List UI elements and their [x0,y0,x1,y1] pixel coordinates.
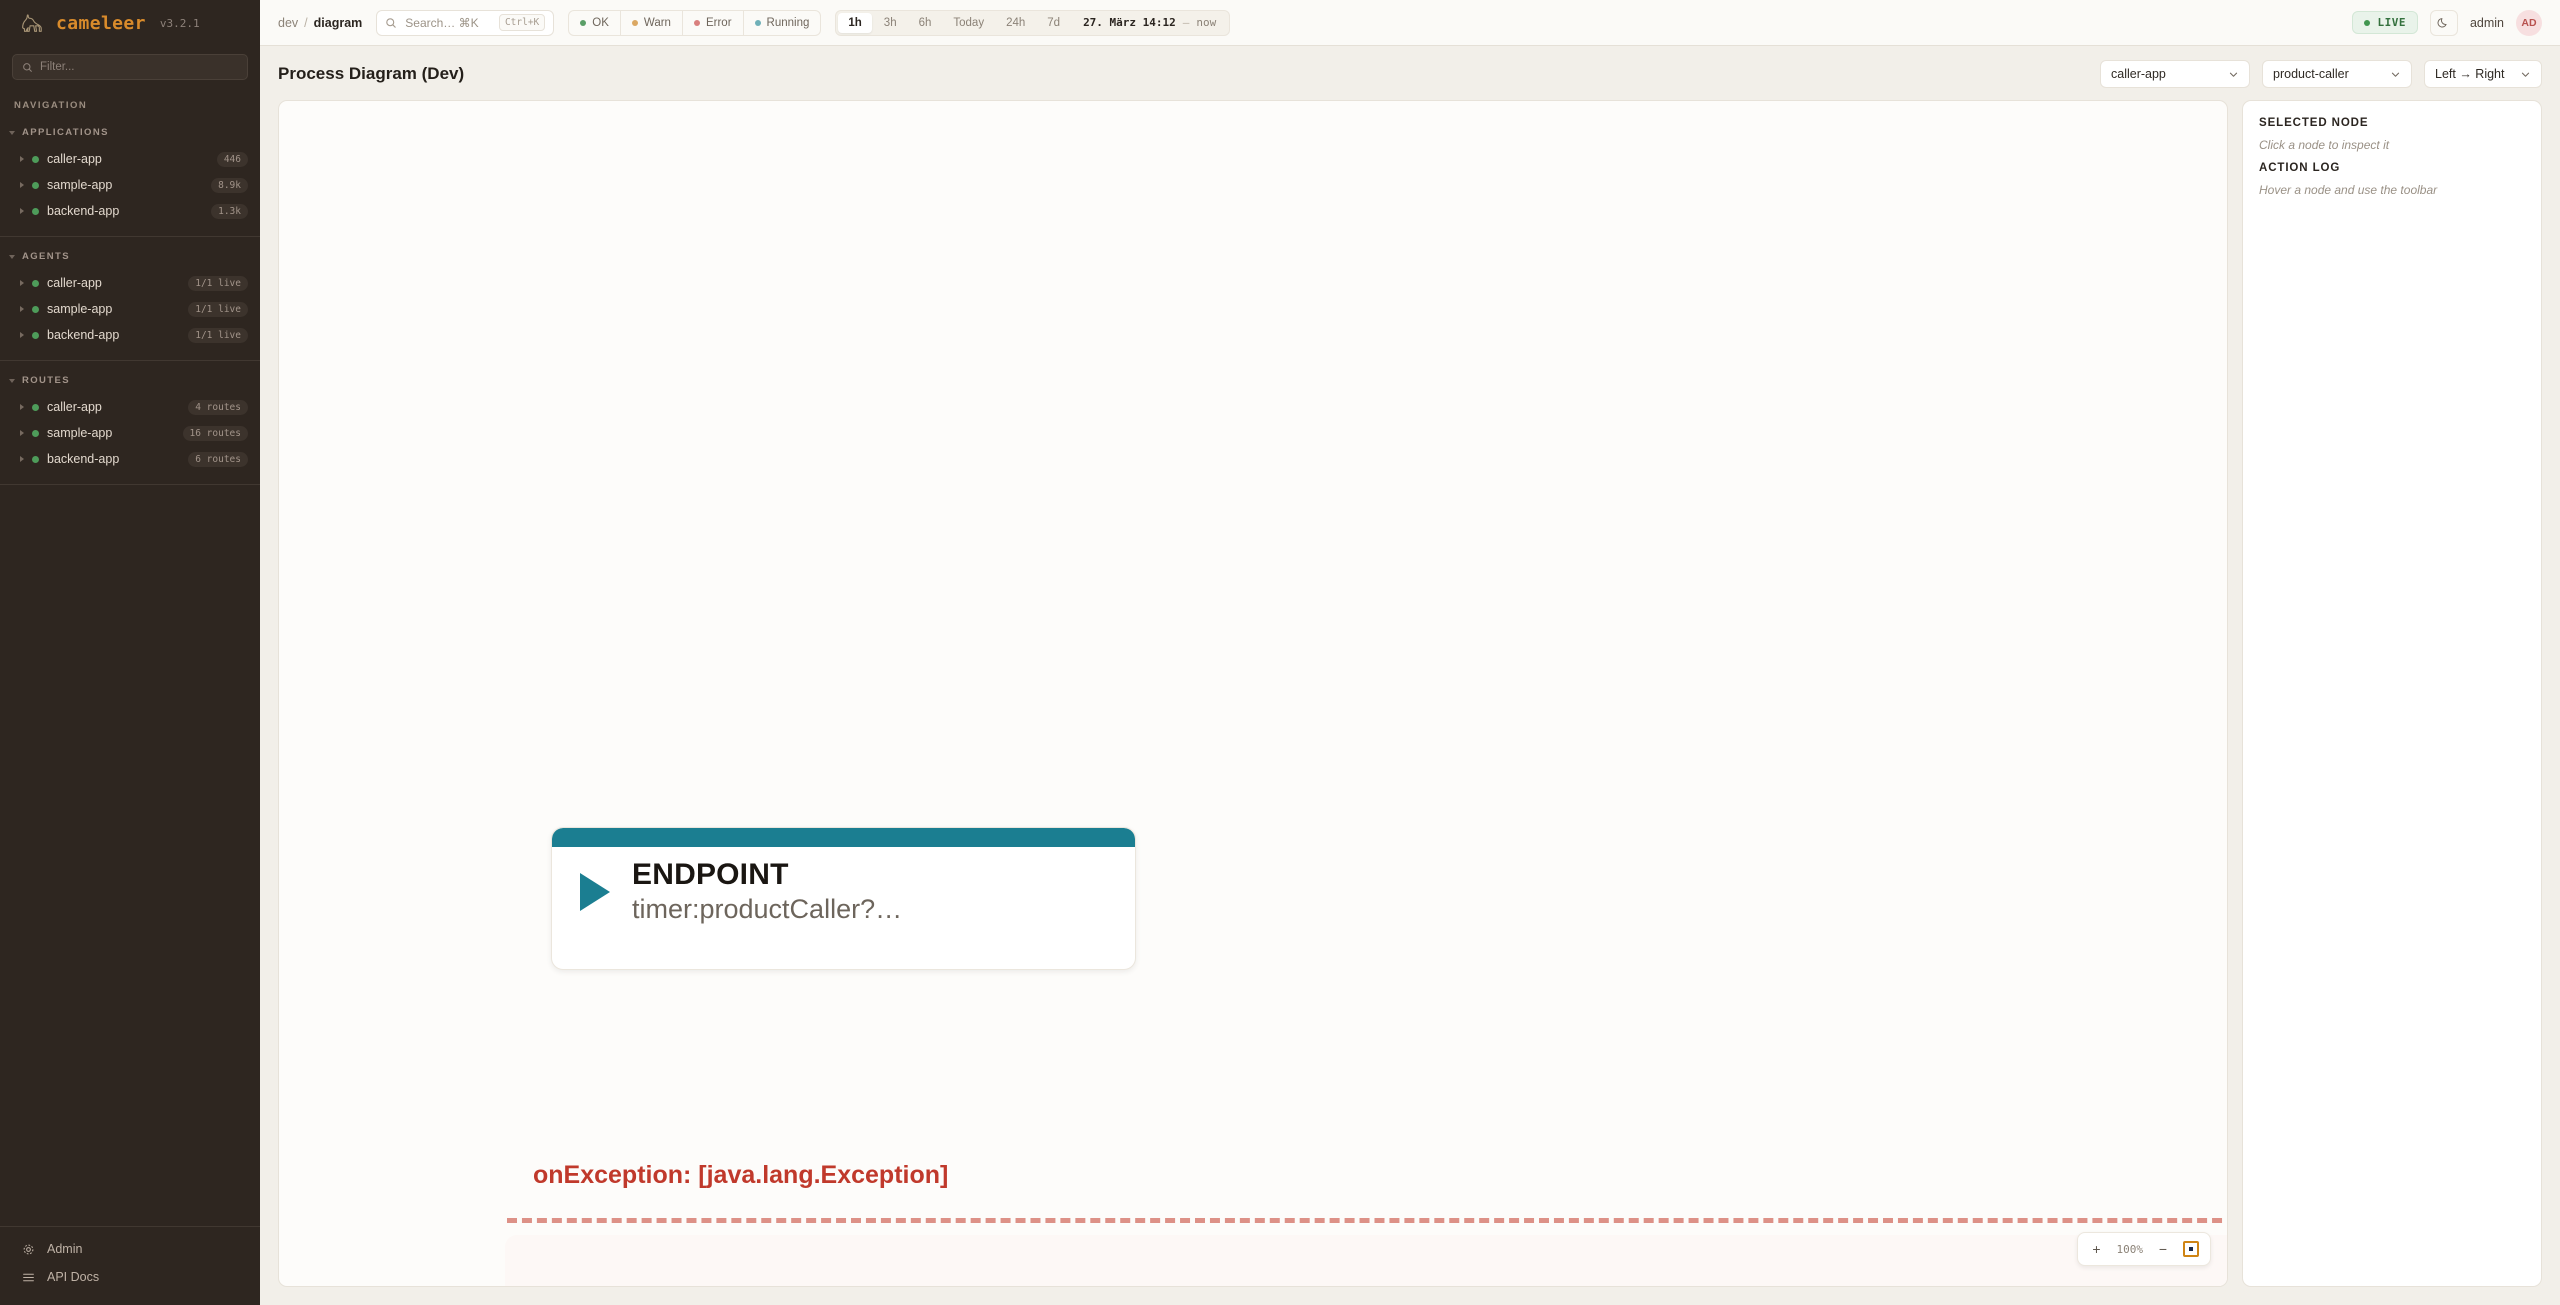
inspector-panel: SELECTED NODE Click a node to inspect it… [2242,100,2542,1287]
time-range-1h[interactable]: 1h [838,13,871,33]
time-window-from: 27. März 14:12 [1083,16,1176,29]
sidebar-item-label: caller-app [47,152,209,166]
status-dot [580,20,586,26]
sidebar-item-label: backend-app [47,204,203,218]
status-dot [632,20,638,26]
diagram-canvas[interactable]: ENDPOINT timer:productCaller?… onExcepti… [278,100,2228,1287]
node-header-bar [552,828,1135,847]
sidebar-item-agents-backend-app[interactable]: backend-app 1/1 live [0,322,260,348]
sidebar-divider [0,1226,260,1227]
status-filter-ok[interactable]: OK [569,11,621,35]
node-text-group: ENDPOINT timer:productCaller?… [632,859,902,925]
status-filter-group: OK Warn Error Running [568,10,821,36]
chevron-right-icon [20,332,24,338]
topbar: dev / diagram Search… ⌘K Ctrl+K OK [260,0,2560,46]
sidebar-item-label: caller-app [47,276,180,290]
status-filter-label: Error [706,17,732,29]
sidebar-group-routes: ROUTES caller-app 4 routes sample-app 16… [0,369,260,476]
chevron-down-icon [2228,69,2239,80]
chevron-down-icon [2520,69,2531,80]
page-header-controls: caller-app product-caller Left → Right [2100,60,2542,88]
sidebar-item-label: Admin [47,1242,82,1256]
sidebar-item-label: backend-app [47,328,180,342]
chevron-right-icon [20,208,24,214]
app-root: cameleer v3.2.1 NAVIGATION APPLICATIONS [0,0,2560,1305]
sidebar-item-label: caller-app [47,400,180,414]
status-dot [32,208,39,215]
sidebar-item-routes-sample-app[interactable]: sample-app 16 routes [0,420,260,446]
sidebar-spacer [0,493,260,1212]
group-title: APPLICATIONS [22,127,109,138]
group-header-routes[interactable]: ROUTES [0,369,260,394]
status-filter-label: Running [767,17,810,29]
sidebar-item-badge: 16 routes [183,426,248,441]
sidebar-item-label: sample-app [47,426,175,440]
sidebar-group-applications: APPLICATIONS caller-app 446 sample-app 8… [0,121,260,228]
fit-view-icon [2183,1241,2199,1257]
zoom-controls: + 100% − [2077,1232,2212,1266]
topbar-right: LIVE admin AD [2352,10,2542,36]
chevron-right-icon [20,306,24,312]
time-range-6h[interactable]: 6h [909,13,942,33]
sidebar-group-agents: AGENTS caller-app 1/1 live sample-app 1/… [0,245,260,352]
action-log-title: ACTION LOG [2259,162,2525,174]
page-title: Process Diagram (Dev) [278,64,464,84]
diagram-node-endpoint[interactable]: ENDPOINT timer:productCaller?… [551,827,1136,970]
filter-box[interactable] [12,54,248,80]
sidebar-item-routes-caller-app[interactable]: caller-app 4 routes [0,394,260,420]
application-select-value: caller-app [2111,67,2166,81]
sidebar-item-label: sample-app [47,178,203,192]
moon-icon [2437,16,2450,29]
sidebar-item-badge: 1/1 live [188,302,248,317]
sidebar: cameleer v3.2.1 NAVIGATION APPLICATIONS [0,0,260,1305]
fit-view-button[interactable] [2179,1238,2203,1260]
node-kind-label: ENDPOINT [632,859,902,891]
chevron-right-icon [20,456,24,462]
play-icon [580,873,610,911]
sidebar-divider [0,484,260,485]
chevron-right-icon [20,430,24,436]
time-window-dash: – [1183,16,1190,29]
time-range-today[interactable]: Today [943,13,994,33]
avatar[interactable]: AD [2516,10,2542,36]
status-filter-error[interactable]: Error [683,11,744,35]
chevron-down-icon [2390,69,2401,80]
sidebar-item-label: API Docs [47,1270,99,1284]
sidebar-item-label: backend-app [47,452,180,466]
sidebar-item-applications-sample-app[interactable]: sample-app 8.9k [0,172,260,198]
breadcrumb-parent[interactable]: dev [278,16,298,30]
status-filter-warn[interactable]: Warn [621,11,683,35]
sidebar-item-badge: 1/1 live [188,328,248,343]
direction-select-value: Left → Right [2435,67,2504,81]
selected-node-title: SELECTED NODE [2259,117,2525,129]
main-area: dev / diagram Search… ⌘K Ctrl+K OK [260,0,2560,1305]
status-dot [32,280,39,287]
exception-label: onException: [java.lang.Exception] [533,1161,948,1190]
status-dot [32,306,39,313]
sidebar-item-api-docs[interactable]: API Docs [0,1263,260,1291]
brand-version: v3.2.1 [160,17,200,30]
live-label: LIVE [2377,16,2406,29]
time-range-7d[interactable]: 7d [1037,13,1070,33]
sidebar-footer: Admin API Docs [0,1212,260,1305]
chevron-right-icon [20,280,24,286]
group-title: AGENTS [22,251,70,262]
breadcrumb: dev / diagram [278,16,362,30]
time-window[interactable]: 27. März 14:12 – now [1072,16,1227,29]
sidebar-divider [0,360,260,361]
chevron-down-icon [9,255,15,259]
nav-section-label: NAVIGATION [0,94,260,121]
search-placeholder: Search… ⌘K [405,16,491,30]
sidebar-filter [0,46,260,94]
node-body: ENDPOINT timer:productCaller?… [552,847,1135,925]
status-dot [32,430,39,437]
status-dot [32,404,39,411]
sidebar-item-admin[interactable]: Admin [0,1235,260,1263]
camel-icon [18,10,44,36]
exception-divider [507,1218,2228,1223]
group-header-applications[interactable]: APPLICATIONS [0,121,260,146]
route-select-value: product-caller [2273,67,2349,81]
status-dot [2364,20,2370,26]
status-dot [32,456,39,463]
group-title: ROUTES [22,375,70,386]
brand[interactable]: cameleer v3.2.1 [0,0,260,46]
chevron-down-icon [9,379,15,383]
sidebar-item-badge: 1.3k [211,204,248,219]
user-name: admin [2470,16,2504,30]
breadcrumb-current[interactable]: diagram [314,16,363,30]
action-log-hint: Hover a node and use the toolbar [2259,183,2525,197]
time-range-24h[interactable]: 24h [996,13,1035,33]
sidebar-item-badge: 4 routes [188,400,248,415]
direction-select[interactable]: Left → Right [2424,60,2542,88]
breadcrumb-separator: / [304,16,307,30]
sidebar-item-badge: 1/1 live [188,276,248,291]
status-filter-running[interactable]: Running [744,11,821,35]
menu-icon [22,1271,35,1284]
application-select[interactable]: caller-app [2100,60,2250,88]
sidebar-item-badge: 446 [217,152,248,167]
search-icon [385,17,397,29]
status-dot [32,182,39,189]
sidebar-item-agents-caller-app[interactable]: caller-app 1/1 live [0,270,260,296]
sidebar-divider [0,236,260,237]
chevron-down-icon [9,131,15,135]
search-shortcut: Ctrl+K [499,14,545,31]
search-icon [22,62,33,73]
sidebar-item-label: sample-app [47,302,180,316]
chevron-right-icon [20,182,24,188]
live-status-badge[interactable]: LIVE [2352,11,2418,34]
time-window-to: now [1196,16,1216,29]
exception-region [505,1235,2228,1287]
sidebar-item-agents-sample-app[interactable]: sample-app 1/1 live [0,296,260,322]
sidebar-item-routes-backend-app[interactable]: backend-app 6 routes [0,446,260,472]
zoom-level-label: 100% [2113,1243,2148,1256]
status-filter-label: Warn [644,17,671,29]
sidebar-item-badge: 8.9k [211,178,248,193]
time-range-group: 1h 3h 6h Today 24h 7d 27. März 14:12 – n… [835,10,1230,36]
selected-node-hint: Click a node to inspect it [2259,138,2525,152]
page-header: Process Diagram (Dev) caller-app product… [260,46,2560,100]
filter-input[interactable] [40,61,238,73]
status-dot [755,20,761,26]
theme-toggle-button[interactable] [2430,10,2458,36]
route-select[interactable]: product-caller [2262,60,2412,88]
chevron-right-icon [20,156,24,162]
brand-name: cameleer [56,13,146,34]
content-area: ENDPOINT timer:productCaller?… onExcepti… [260,100,2560,1305]
chevron-right-icon [20,404,24,410]
time-range-3h[interactable]: 3h [874,13,907,33]
status-dot [32,156,39,163]
zoom-out-button[interactable]: − [2151,1238,2175,1260]
node-uri-label: timer:productCaller?… [632,893,902,925]
search-input[interactable]: Search… ⌘K Ctrl+K [376,10,554,36]
sidebar-item-applications-backend-app[interactable]: backend-app 1.3k [0,198,260,224]
status-dot [694,20,700,26]
group-header-agents[interactable]: AGENTS [0,245,260,270]
gear-icon [22,1243,35,1256]
zoom-in-button[interactable]: + [2085,1238,2109,1260]
status-dot [32,332,39,339]
sidebar-item-badge: 6 routes [188,452,248,467]
sidebar-item-applications-caller-app[interactable]: caller-app 446 [0,146,260,172]
status-filter-label: OK [592,17,609,29]
